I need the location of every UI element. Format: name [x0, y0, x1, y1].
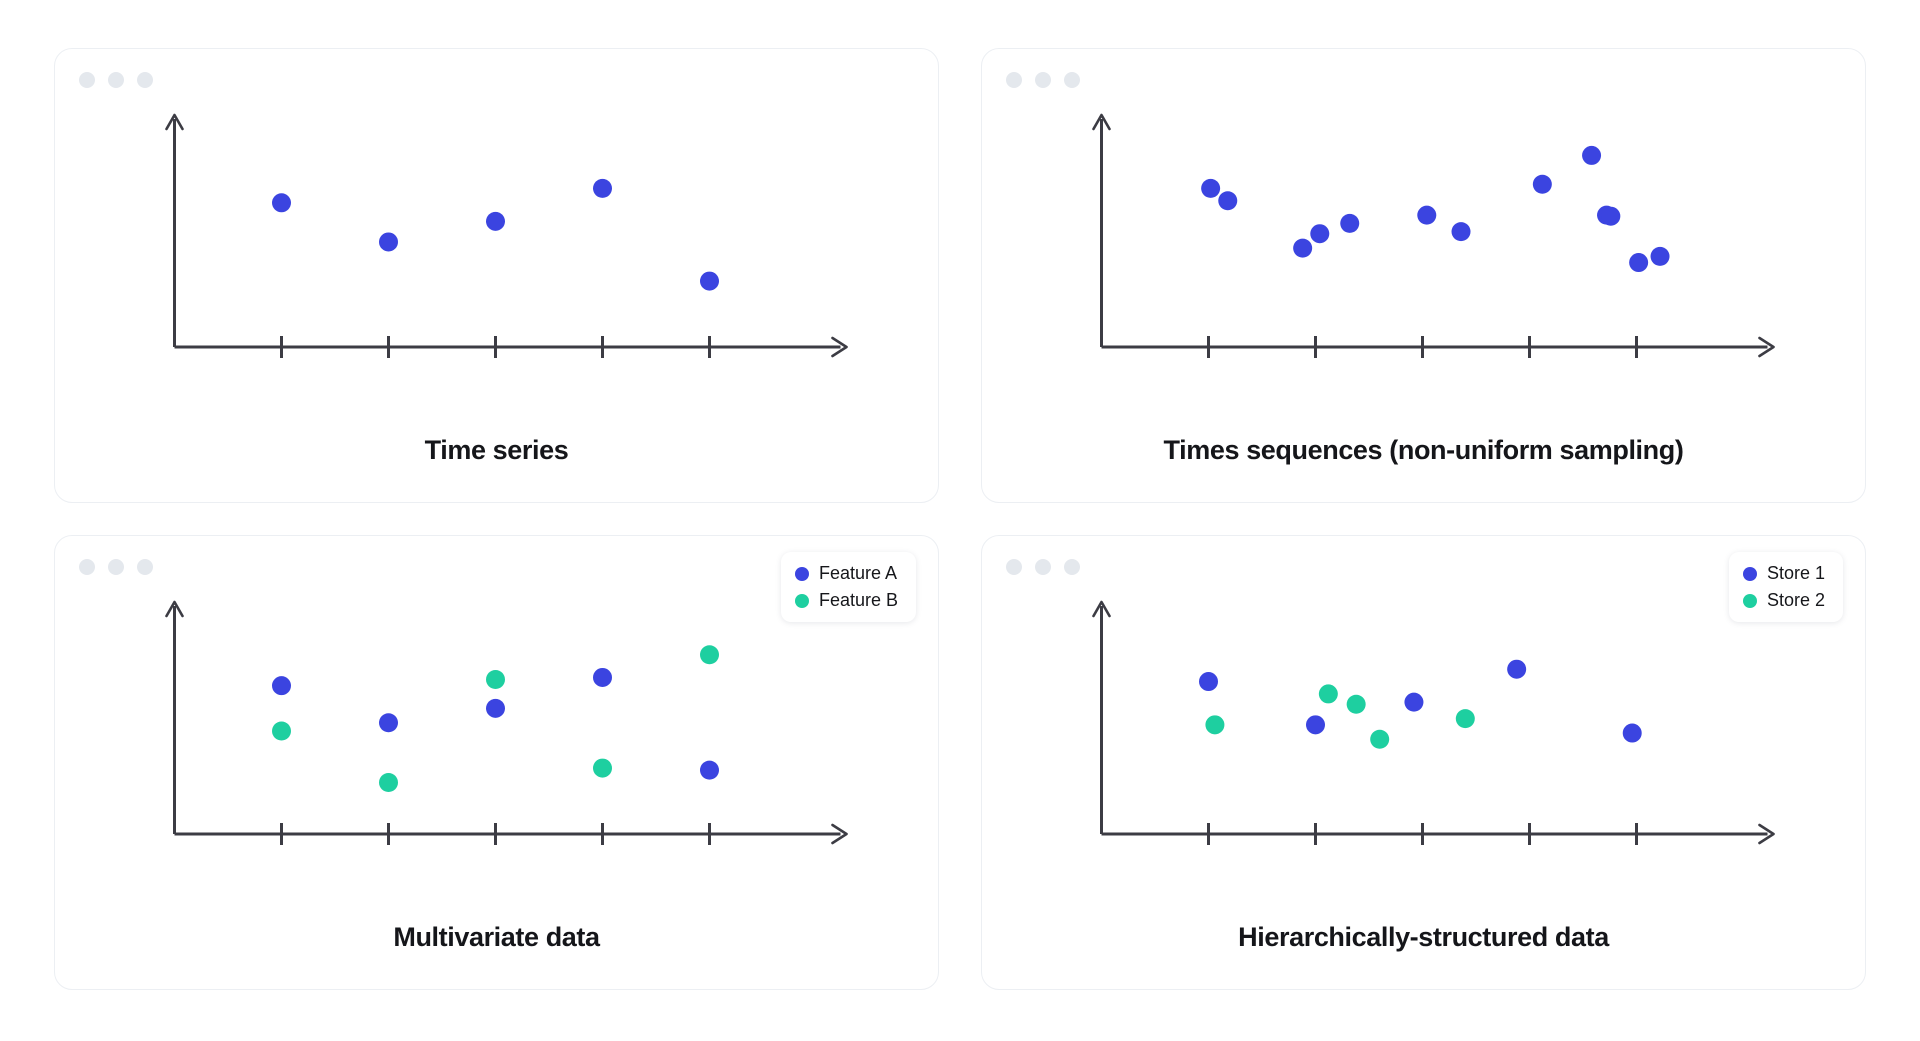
legend-item-2[interactable]: Store 2	[1743, 590, 1825, 611]
data-point	[700, 761, 719, 780]
scatter-plot-time-series	[55, 101, 938, 393]
window-dot-3[interactable]	[137, 72, 153, 88]
axes	[1094, 115, 1774, 358]
series-1-points	[1199, 660, 1642, 743]
legend-label: Store 1	[1767, 563, 1825, 584]
data-point	[1319, 684, 1338, 703]
legend-swatch-icon	[795, 567, 809, 581]
series-1-points	[1201, 146, 1669, 272]
data-point	[1629, 253, 1648, 272]
data-point	[1293, 239, 1312, 258]
legend-swatch-icon	[1743, 594, 1757, 608]
legend-swatch-icon	[1743, 567, 1757, 581]
window-dot-1[interactable]	[1006, 72, 1022, 88]
panel-card-time-sequences: Times sequences (non-uniform sampling)	[981, 48, 1866, 503]
data-point	[700, 272, 719, 291]
axes	[167, 602, 847, 845]
data-point	[1347, 695, 1366, 714]
window-dot-2[interactable]	[1035, 72, 1051, 88]
window-dot-2[interactable]	[108, 559, 124, 575]
data-point	[272, 676, 291, 695]
data-point	[272, 193, 291, 212]
window-dot-1[interactable]	[79, 72, 95, 88]
data-point	[593, 668, 612, 687]
legend-item-1[interactable]: Store 1	[1743, 563, 1825, 584]
scatter-plot-time-sequences	[982, 101, 1865, 393]
window-controls	[1006, 559, 1080, 575]
data-point	[1452, 222, 1471, 241]
data-point	[1417, 206, 1436, 225]
data-point	[1199, 672, 1218, 691]
scatter-plot-multivariate	[55, 588, 938, 880]
series-1-points	[272, 179, 719, 291]
series-2-points	[1205, 684, 1474, 748]
axes	[1094, 602, 1774, 845]
data-point	[379, 232, 398, 251]
axes	[167, 115, 847, 358]
data-point	[1582, 146, 1601, 165]
data-point	[1533, 175, 1552, 194]
panel-card-time-series: Time series	[54, 48, 939, 503]
data-point	[1205, 715, 1224, 734]
legend-swatch-icon	[795, 594, 809, 608]
data-point	[486, 699, 505, 718]
data-point	[1218, 191, 1237, 210]
panel-card-multivariate: Feature AFeature BMultivariate data	[54, 535, 939, 990]
data-point	[1306, 715, 1325, 734]
window-dot-3[interactable]	[1064, 559, 1080, 575]
chart-legend: Feature AFeature B	[781, 552, 916, 622]
data-point	[1601, 207, 1620, 226]
window-dot-2[interactable]	[108, 72, 124, 88]
window-dot-3[interactable]	[1064, 72, 1080, 88]
legend-label: Store 2	[1767, 590, 1825, 611]
data-point	[1456, 709, 1475, 728]
panel-grid: Time seriesTimes sequences (non-uniform …	[0, 0, 1920, 1041]
data-point	[593, 759, 612, 778]
data-point	[379, 713, 398, 732]
window-dot-1[interactable]	[1006, 559, 1022, 575]
legend-item-1[interactable]: Feature A	[795, 563, 898, 584]
data-point	[1404, 693, 1423, 712]
panel-card-hierarchical: Store 1Store 2Hierarchically-structured …	[981, 535, 1866, 990]
series-2-points	[272, 645, 719, 792]
legend-label: Feature B	[819, 590, 898, 611]
panel-title: Time series	[55, 435, 938, 466]
legend-item-2[interactable]: Feature B	[795, 590, 898, 611]
data-point	[1340, 214, 1359, 233]
window-controls	[1006, 72, 1080, 88]
panel-title: Multivariate data	[55, 922, 938, 953]
data-point	[1507, 660, 1526, 679]
data-point	[700, 645, 719, 664]
data-point	[593, 179, 612, 198]
panel-title: Times sequences (non-uniform sampling)	[982, 435, 1865, 466]
window-controls	[79, 559, 153, 575]
window-dot-2[interactable]	[1035, 559, 1051, 575]
data-point	[486, 670, 505, 689]
data-point	[1623, 724, 1642, 743]
window-dot-1[interactable]	[79, 559, 95, 575]
data-point	[1370, 730, 1389, 749]
legend-label: Feature A	[819, 563, 897, 584]
chart-legend: Store 1Store 2	[1729, 552, 1843, 622]
window-controls	[79, 72, 153, 88]
scatter-plot-hierarchical	[982, 588, 1865, 880]
data-point	[1310, 224, 1329, 243]
window-dot-3[interactable]	[137, 559, 153, 575]
data-point	[272, 722, 291, 741]
page-root: Time seriesTimes sequences (non-uniform …	[0, 0, 1920, 1041]
data-point	[486, 212, 505, 231]
data-point	[379, 773, 398, 792]
panel-title: Hierarchically-structured data	[982, 922, 1865, 953]
data-point	[1651, 247, 1670, 266]
data-point	[1201, 179, 1220, 198]
